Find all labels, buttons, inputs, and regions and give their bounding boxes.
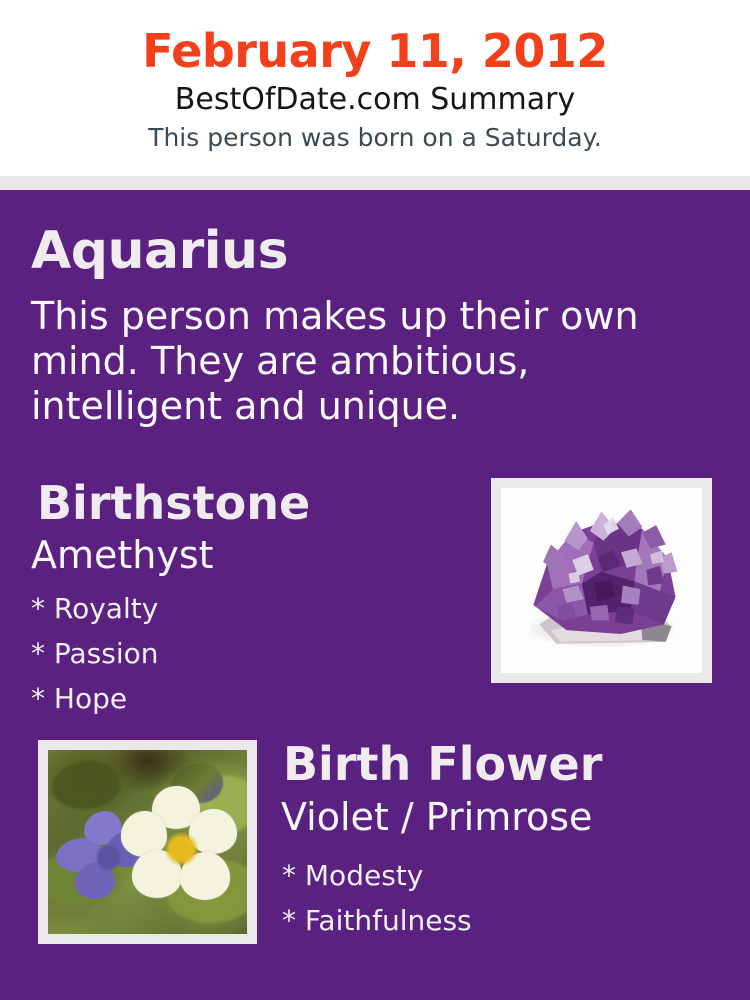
- site-summary-label: BestOfDate.com Summary: [0, 80, 750, 120]
- birthstone-photo-frame: [491, 478, 712, 683]
- header-divider: [0, 176, 750, 190]
- birth-flower-photo-frame: [38, 740, 257, 944]
- amethyst-crystal-illustration: [501, 488, 702, 673]
- born-day-text: This person was born on a Saturday.: [0, 121, 750, 154]
- list-item: * Hope: [31, 676, 159, 721]
- primrose-center: [164, 832, 199, 866]
- header-section: February 11, 2012 BestOfDate.com Summary…: [0, 0, 750, 176]
- zodiac-description: This person makes up their own mind. The…: [31, 294, 686, 429]
- amethyst-geode-photo: [501, 488, 702, 673]
- birth-flower-trait-list: * Modesty * Faithfulness: [282, 853, 472, 943]
- birthstone-heading: Birthstone: [37, 477, 310, 529]
- flower-photo-background: [48, 750, 247, 934]
- birth-flower-name: Violet / Primrose: [281, 795, 592, 839]
- bestofdate-summary-card: February 11, 2012 BestOfDate.com Summary…: [0, 0, 750, 1000]
- list-item: * Modesty: [282, 853, 472, 898]
- birthstone-name: Amethyst: [31, 533, 214, 577]
- page-title: February 11, 2012: [0, 24, 750, 78]
- list-item: * Faithfulness: [282, 898, 472, 943]
- violet-center: [97, 845, 121, 870]
- list-item: * Passion: [31, 631, 159, 676]
- zodiac-sign-title: Aquarius: [31, 222, 288, 280]
- birthstone-trait-list: * Royalty * Passion * Hope: [31, 586, 159, 721]
- violet-primrose-photo: [48, 750, 247, 934]
- birth-flower-heading: Birth Flower: [283, 738, 602, 790]
- list-item: * Royalty: [31, 586, 159, 631]
- primrose-flower-shape: [128, 790, 237, 904]
- amethyst-photo-background: [501, 488, 702, 673]
- leaf-shape: [52, 761, 120, 809]
